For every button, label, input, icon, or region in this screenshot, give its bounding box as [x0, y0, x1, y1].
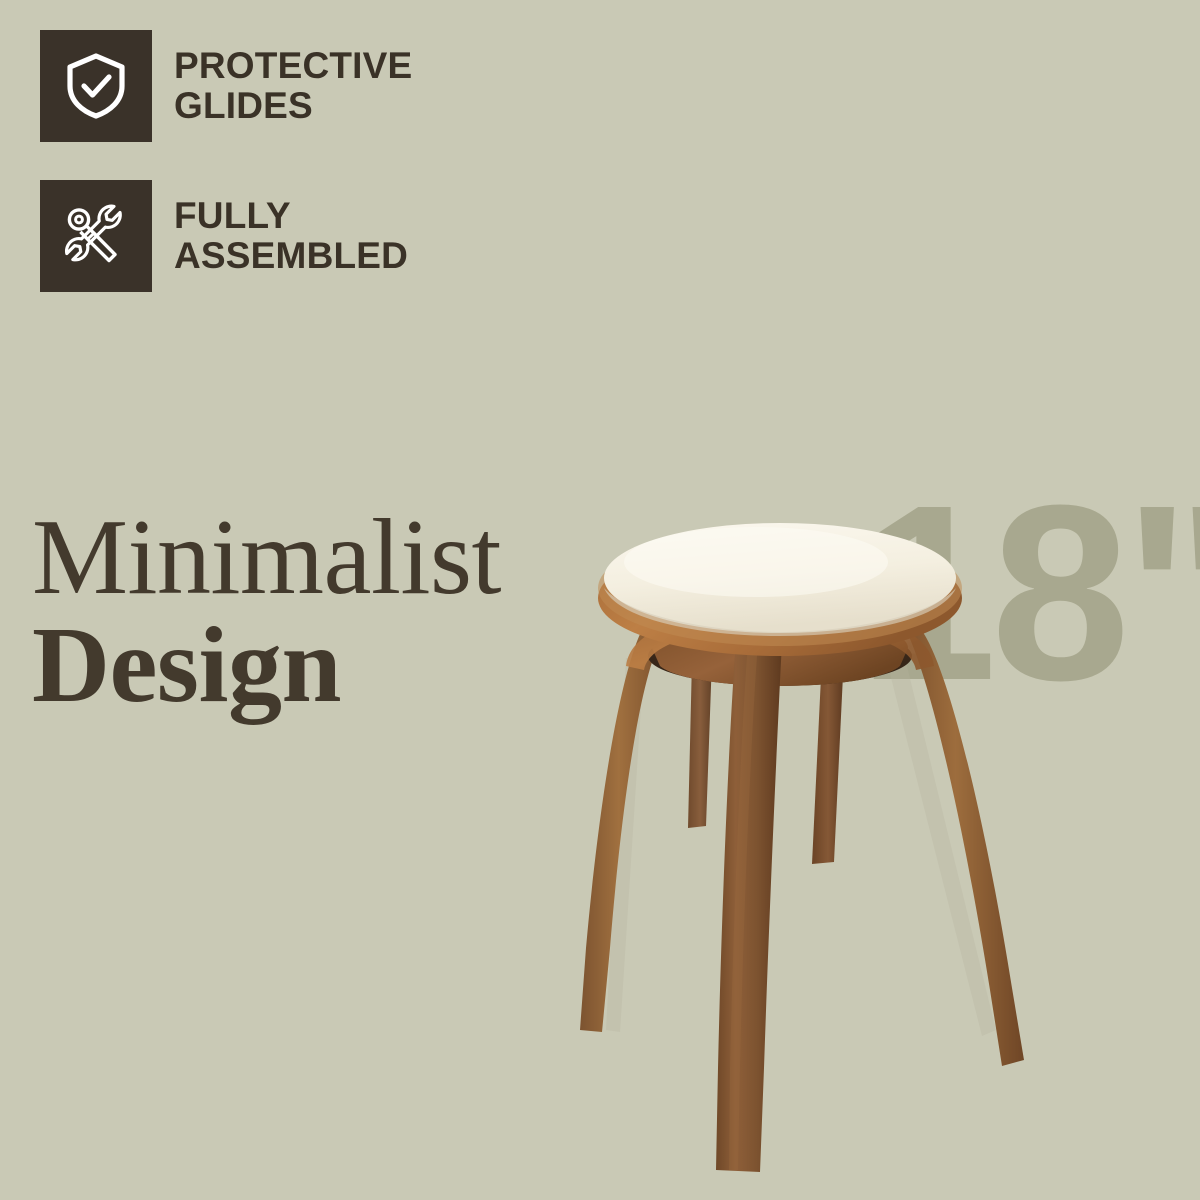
feature-badge-protective-glides: PROTECTIVE GLIDES: [40, 30, 412, 142]
badge-icon-tile: [40, 30, 152, 142]
stool-illustration: [430, 470, 1130, 1200]
stool-leg-right: [900, 620, 1024, 1066]
product-feature-graphic: PROTECTIVE GLIDES FULLY ASSEMBLED Minima…: [0, 0, 1200, 1200]
stool-leg-rear-right: [812, 654, 844, 864]
badge-label: FULLY ASSEMBLED: [174, 196, 408, 275]
stool-cushion-highlight: [624, 527, 888, 597]
product-image-stool: [430, 470, 1130, 1200]
shield-check-icon: [64, 52, 128, 120]
stool-leg-rear-left: [688, 658, 712, 828]
wrench-screwdriver-icon: [63, 203, 129, 269]
badge-label: PROTECTIVE GLIDES: [174, 46, 412, 125]
feature-badge-fully-assembled: FULLY ASSEMBLED: [40, 180, 408, 292]
badge-icon-tile: [40, 180, 152, 292]
